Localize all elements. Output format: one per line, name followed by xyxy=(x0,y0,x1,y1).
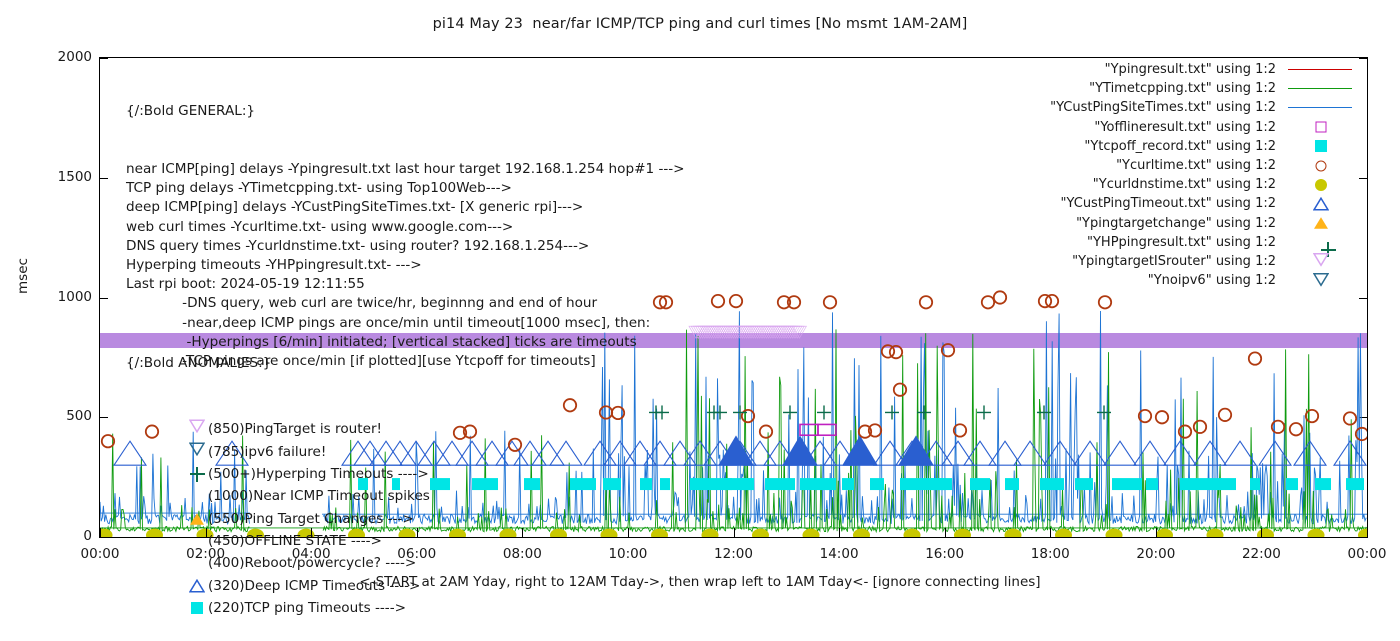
x-tick-label: 14:00 xyxy=(799,546,879,562)
legend-label: "Ypingresult.txt" using 1:2 xyxy=(1105,62,1276,77)
legend-row[interactable]: "Yofflineresult.txt" using 1:2 xyxy=(985,118,1360,137)
legend-key xyxy=(1282,271,1360,290)
anomaly-marker xyxy=(186,467,208,482)
anomaly-text: (550)Ping Target Changes ---> xyxy=(208,508,414,530)
anomaly-row: (785)ipv6 failure! xyxy=(126,441,430,463)
legend-row[interactable]: "YCustPingTimeout.txt" using 1:2 xyxy=(985,194,1360,213)
general-line: Last rpi boot: 2024-05-19 12:11:55 xyxy=(126,275,685,294)
x-tick-mark xyxy=(1367,528,1368,538)
general-line: deep ICMP[ping] delays -YCustPingSiteTim… xyxy=(126,198,685,217)
legend-row[interactable]: "YHPpingresult.txt" using 1:2 xyxy=(985,233,1360,252)
x-tick-label: 18:00 xyxy=(1010,546,1090,562)
open-triangle-up-icon xyxy=(1313,197,1329,211)
legend-row[interactable]: "YTimetcpping.txt" using 1:2 xyxy=(985,79,1360,98)
legend-key xyxy=(1282,175,1360,194)
open-circle-icon xyxy=(1316,160,1327,171)
general-line: DNS query times -Ycurldnstime.txt- using… xyxy=(126,237,685,256)
open-triangle-up-icon xyxy=(189,579,205,593)
open-square-icon xyxy=(1316,122,1327,133)
filled-square-icon xyxy=(191,602,203,614)
legend: "Ypingresult.txt" using 1:2"YTimetcpping… xyxy=(985,60,1360,290)
general-line: web curl times -Ycurltime.txt- using www… xyxy=(126,218,685,237)
x-tick-label: 12:00 xyxy=(694,546,774,562)
anomaly-text: (220)TCP ping Timeouts ----> xyxy=(208,597,406,619)
open-triangle-down-icon xyxy=(1313,252,1329,271)
anomaly-text: (500+)Hyperping Timeouts ----> xyxy=(208,463,429,485)
legend-label: "Ypingtargetchange" using 1:2 xyxy=(1076,216,1276,231)
y-tick-label: 1000 xyxy=(0,289,92,305)
legend-key xyxy=(1282,137,1360,156)
legend-label: "Ycurltime.txt" using 1:2 xyxy=(1116,158,1276,173)
anomaly-row: (500+)Hyperping Timeouts ----> xyxy=(126,463,430,485)
anomaly-row: (450)OFFLINE STATE ----> xyxy=(126,530,430,552)
x-tick-mark xyxy=(1050,528,1051,538)
anomaly-row: (1000)Near ICMP Timeout spikes xyxy=(126,485,430,507)
anomaly-marker xyxy=(186,512,208,526)
legend-label: "YHPpingresult.txt" using 1:2 xyxy=(1087,235,1276,250)
legend-row[interactable]: "Ytcpoff_record.txt" using 1:2 xyxy=(985,137,1360,156)
filled-square-icon xyxy=(1315,140,1327,152)
legend-row[interactable]: "YpingtargetISrouter" using 1:2 xyxy=(985,252,1360,271)
x-tick-mark xyxy=(1156,528,1157,538)
anomaly-text: (785)ipv6 failure! xyxy=(208,441,326,463)
legend-row[interactable]: "Ycurldnstime.txt" using 1:2 xyxy=(985,175,1360,194)
general-line: near ICMP[ping] delays -Ypingresult.txt … xyxy=(126,160,685,179)
open-triangle-down-icon xyxy=(189,441,205,463)
legend-key xyxy=(1282,98,1360,117)
x-tick-mark xyxy=(628,528,629,538)
general-line: TCP ping delays -YTimetcpping.txt- using… xyxy=(126,179,685,198)
legend-label: "Ytcpoff_record.txt" using 1:2 xyxy=(1084,139,1276,154)
legend-key xyxy=(1282,60,1360,79)
y-tick-label: 1500 xyxy=(0,169,92,185)
x-tick-label: 08:00 xyxy=(482,546,562,562)
anomaly-text: (400)Reboot/powercycle? ----> xyxy=(208,552,416,574)
x-tick-mark xyxy=(945,528,946,538)
open-triangle-down-icon xyxy=(189,418,205,440)
legend-row[interactable]: "Ypingresult.txt" using 1:2 xyxy=(985,60,1360,79)
legend-key xyxy=(1282,194,1360,213)
y-tick-label: 0 xyxy=(0,528,92,544)
legend-key xyxy=(1282,79,1360,98)
x-tick-label: 20:00 xyxy=(1116,546,1196,562)
anomalies-notes: {/:Bold ANOMALIES:} (850)PingTarget is r… xyxy=(126,307,430,641)
anomalies-heading: {/:Bold ANOMALIES:} xyxy=(126,352,430,374)
x-tick-label: 16:00 xyxy=(905,546,985,562)
anomaly-marker xyxy=(186,579,208,593)
filled-triangle-up-icon xyxy=(1313,216,1329,230)
x-tick-label: 00:00 xyxy=(1327,546,1400,562)
legend-label: "Yofflineresult.txt" using 1:2 xyxy=(1094,120,1276,135)
legend-key xyxy=(1282,156,1360,175)
legend-key xyxy=(1282,233,1360,252)
legend-label: "YpingtargetISrouter" using 1:2 xyxy=(1072,254,1276,269)
general-line: Hyperping timeouts -YHPpingresult.txt- -… xyxy=(126,256,685,275)
anomaly-text: (850)PingTarget is router! xyxy=(208,418,382,440)
anomaly-marker xyxy=(186,418,208,440)
plus-icon xyxy=(190,467,205,482)
anomaly-marker xyxy=(186,602,208,614)
filled-triangle-up-icon xyxy=(189,512,205,526)
legend-key xyxy=(1282,118,1360,137)
anomaly-row: (850)PingTarget is router! xyxy=(126,418,430,440)
legend-row[interactable]: "Ypingtargetchange" using 1:2 xyxy=(985,214,1360,233)
general-heading: {/:Bold GENERAL:} xyxy=(126,102,685,121)
legend-label: "Ynoipv6" using 1:2 xyxy=(1148,273,1276,288)
x-tick-mark xyxy=(839,528,840,538)
legend-row[interactable]: "Ycurltime.txt" using 1:2 xyxy=(985,156,1360,175)
anomaly-row: (220)TCP ping Timeouts ----> xyxy=(126,597,430,619)
y-tick-label: 500 xyxy=(0,408,92,424)
anomaly-row: (400)Reboot/powercycle? ----> xyxy=(126,552,430,574)
x-tick-mark xyxy=(1261,528,1262,538)
anomaly-text: (450)OFFLINE STATE ----> xyxy=(208,530,382,552)
anomaly-text: (1000)Near ICMP Timeout spikes xyxy=(208,485,430,507)
page-title: pi14 May 23 near/far ICMP/TCP ping and c… xyxy=(0,16,1400,32)
legend-label: "YCustPingTimeout.txt" using 1:2 xyxy=(1061,196,1276,211)
legend-row[interactable]: "Ynoipv6" using 1:2 xyxy=(985,271,1360,290)
x-tick-label: 10:00 xyxy=(588,546,668,562)
legend-label: "YCustPingSiteTimes.txt" using 1:2 xyxy=(1050,100,1276,115)
x-tick-mark xyxy=(734,528,735,538)
legend-key xyxy=(1282,252,1360,271)
anomaly-row: (550)Ping Target Changes ---> xyxy=(126,508,430,530)
open-triangle-down-icon xyxy=(1313,271,1329,290)
legend-label: "Ycurldnstime.txt" using 1:2 xyxy=(1093,177,1276,192)
x-tick-mark xyxy=(522,528,523,538)
legend-label: "YTimetcpping.txt" using 1:2 xyxy=(1089,81,1276,96)
legend-row[interactable]: "YCustPingSiteTimes.txt" using 1:2 xyxy=(985,98,1360,117)
y-tick-label: 2000 xyxy=(0,49,92,65)
legend-key xyxy=(1282,214,1360,233)
anomaly-text: (320)Deep ICMP Timeouts ----> xyxy=(208,575,420,597)
anomaly-marker xyxy=(186,441,208,463)
x-tick-mark xyxy=(100,528,101,538)
anomaly-row: (320)Deep ICMP Timeouts ----> xyxy=(126,575,430,597)
x-tick-label: 22:00 xyxy=(1221,546,1301,562)
filled-circle-icon xyxy=(1315,179,1327,191)
